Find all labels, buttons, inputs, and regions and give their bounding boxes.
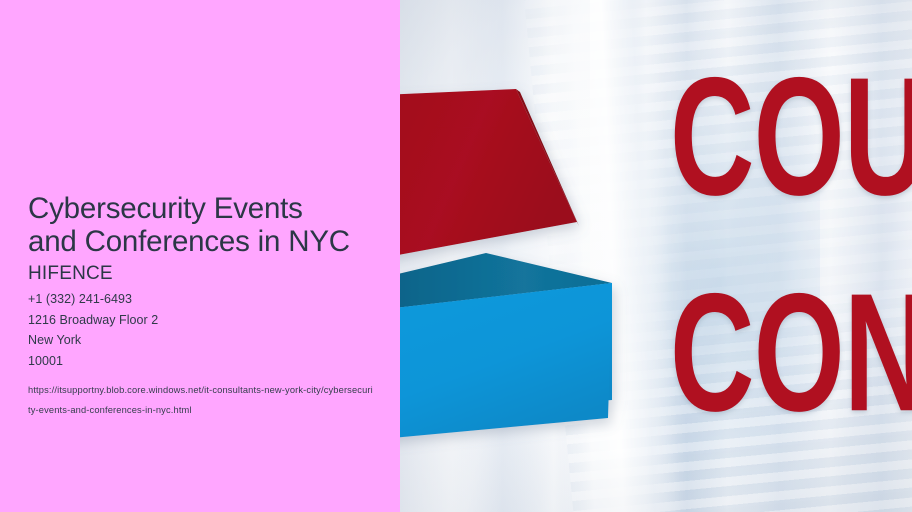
panel-seam (399, 0, 401, 512)
source-url[interactable]: https://itsupportny.blob.core.windows.ne… (28, 380, 373, 420)
poster-canvas: COUS CONIT Cybersecurity Events and Conf… (0, 0, 912, 512)
phone-number[interactable]: +1 (332) 241-6493 (28, 289, 400, 310)
business-info-block: Cybersecurity Events and Conferences in … (28, 192, 400, 420)
address-street: 1216 Broadway Floor 2 (28, 310, 400, 331)
hero-image-panel: COUS CONIT (400, 0, 912, 512)
page-title: Cybersecurity Events and Conferences in … (28, 192, 400, 258)
address-city: New York (28, 330, 400, 351)
address-zip: 10001 (28, 351, 400, 372)
headline-lettering: COUS CONIT (668, 0, 912, 512)
info-panel: Cybersecurity Events and Conferences in … (0, 0, 400, 512)
headline-line-2: CONIT (670, 268, 912, 436)
brand-name: HIFENCE (28, 262, 400, 286)
headline-line-1: COUS (670, 52, 912, 220)
